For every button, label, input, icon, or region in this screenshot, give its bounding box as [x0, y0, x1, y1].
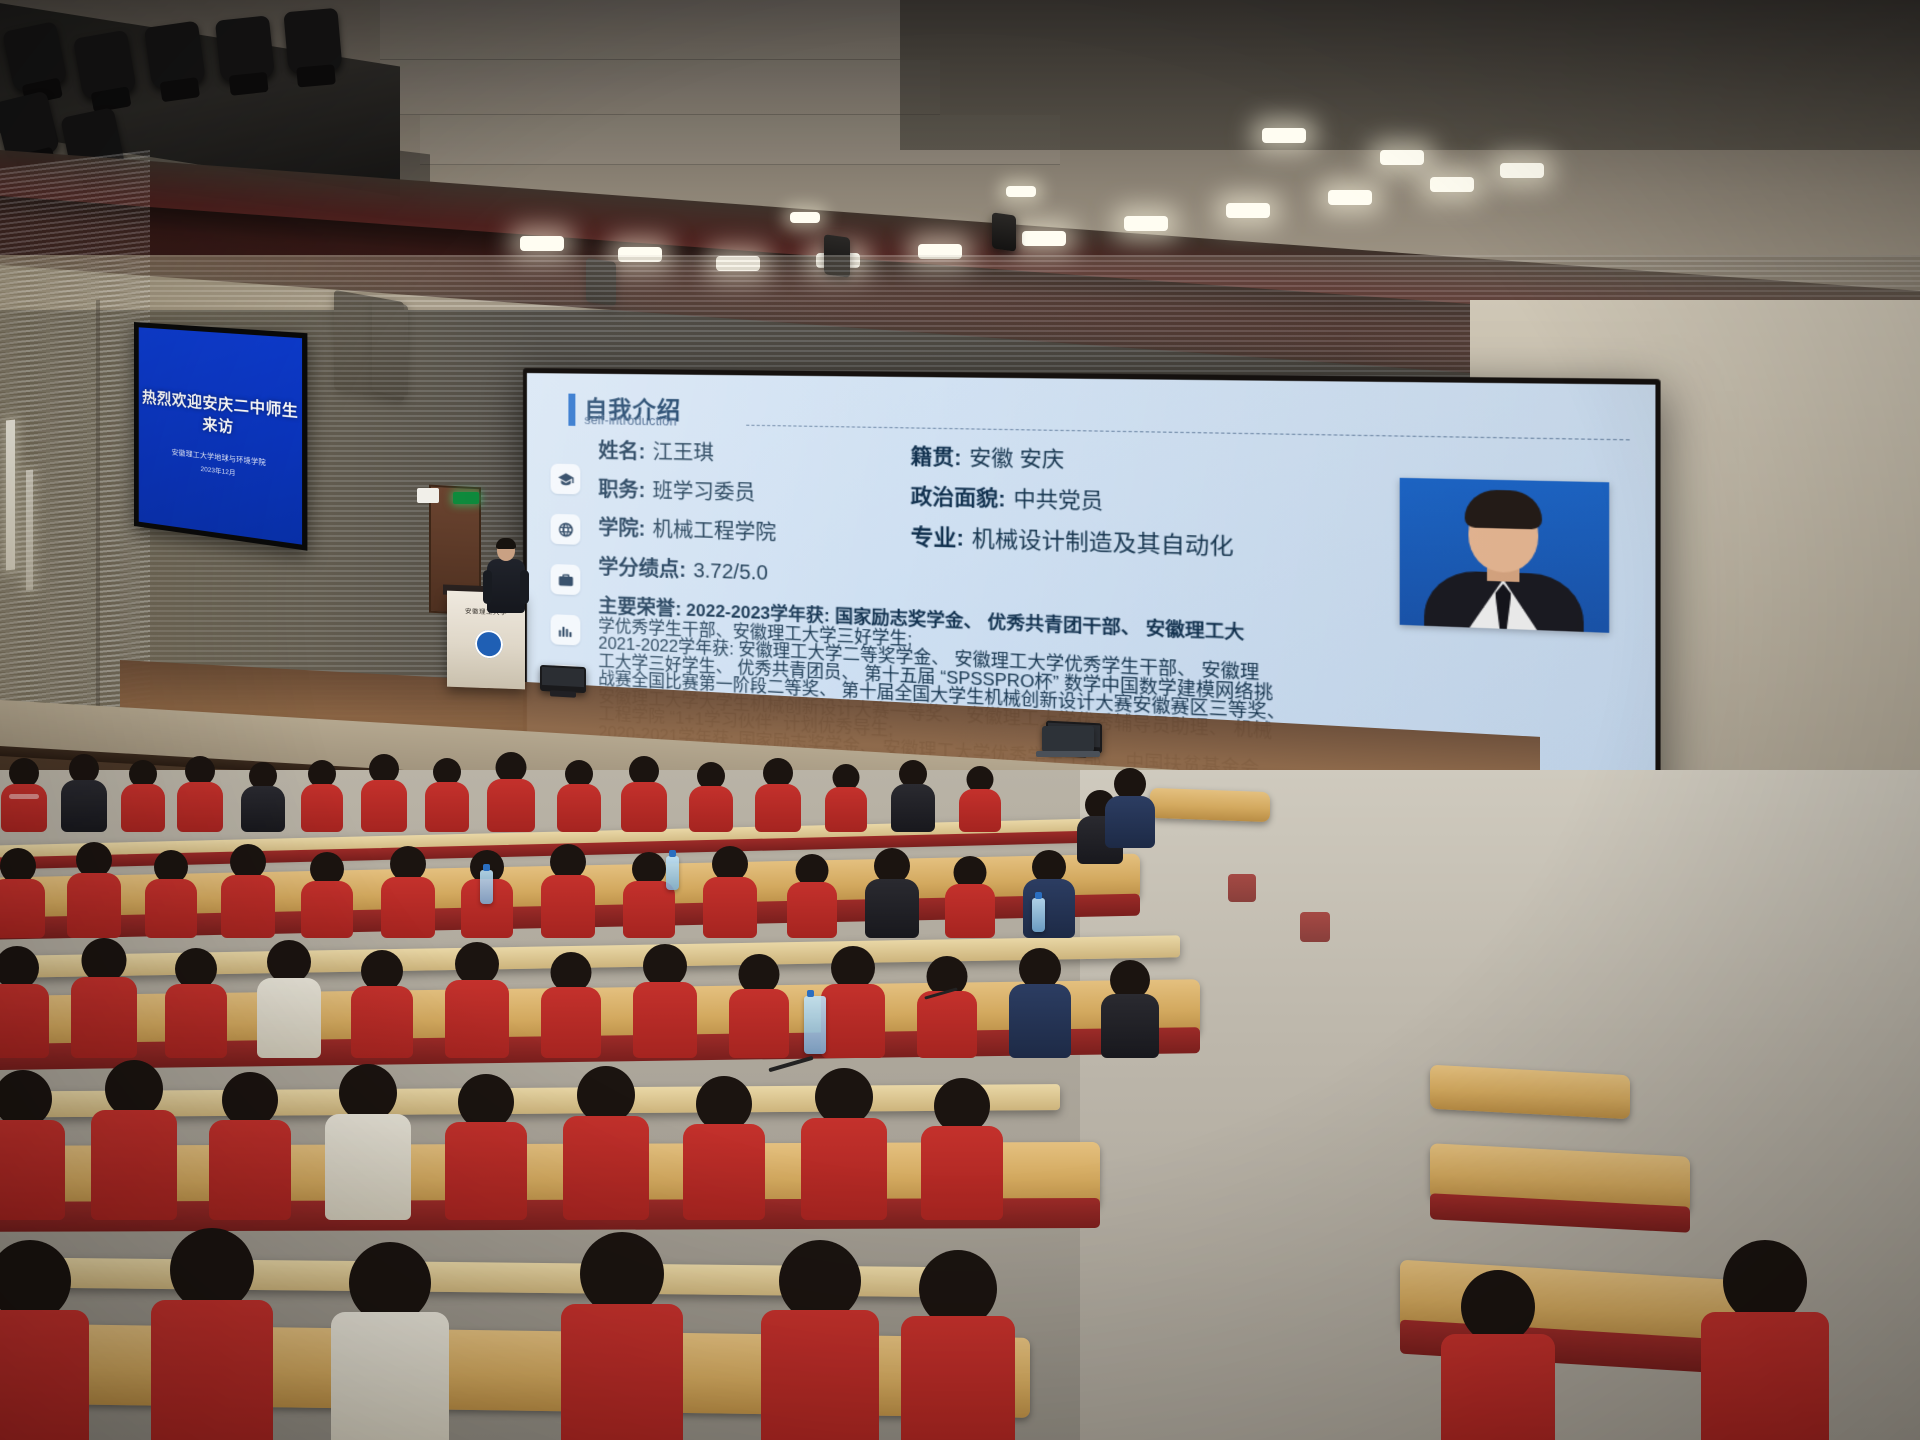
header-divider [746, 425, 1629, 441]
water-bottle [1032, 898, 1045, 932]
ceiling-light [1006, 186, 1036, 197]
ceiling-light [1500, 163, 1544, 178]
presenter-hair [496, 538, 516, 549]
spotlight-icon [144, 21, 206, 90]
audience-member [560, 1232, 684, 1440]
university-emblem-icon [475, 629, 503, 658]
ceiling-light [790, 212, 820, 223]
audience-member [944, 856, 996, 938]
info-cell-right: 政治面貌: 中共党员 [911, 480, 1104, 516]
bench-row [1150, 788, 1270, 822]
audience-member [330, 1242, 450, 1440]
water-bottle [480, 870, 493, 904]
emergency-lamp [417, 488, 439, 503]
audience-member [620, 756, 668, 832]
info-value: 江王琪 [652, 435, 713, 466]
audience-member [1700, 1240, 1830, 1440]
spotlight-icon [215, 15, 275, 82]
audience-member [1022, 850, 1076, 938]
audience-member [540, 844, 596, 938]
audience-member [728, 954, 790, 1058]
audience-member [632, 944, 698, 1058]
audience-member [360, 754, 408, 832]
audience-member [324, 1064, 412, 1220]
gpa-value: 3.72/5.0 [693, 560, 768, 586]
audience-member [864, 848, 920, 938]
globe-icon [551, 514, 581, 545]
title-accent-bar [568, 394, 575, 426]
audience-member [486, 752, 536, 832]
info-cell-left: 职务: 班学习委员 [598, 473, 910, 511]
slide-subtitle: self-introduction [584, 413, 676, 429]
ceiling-light [1262, 128, 1306, 143]
audience-member [682, 1076, 766, 1220]
info-value: 机械工程学院 [652, 513, 776, 546]
info-value: 机械设计制造及其自动化 [972, 522, 1234, 562]
info-label: 专业: [911, 520, 964, 553]
audience-member [0, 1240, 90, 1440]
wall-light-slot [6, 419, 15, 570]
audience-member [120, 760, 166, 832]
audience-member [150, 1228, 274, 1440]
spotlight-icon [283, 8, 342, 74]
audience-member [820, 946, 886, 1058]
ceiling-dark-panel [900, 0, 1920, 150]
audience-member [176, 756, 224, 832]
info-value: 中共党员 [1013, 482, 1103, 515]
audience-member [256, 940, 322, 1058]
audience-member [900, 1250, 1016, 1440]
loudspeaker [992, 212, 1016, 251]
info-label: 政治面貌: [911, 480, 1006, 513]
audience-member [90, 1060, 178, 1220]
ceiling-light [1226, 203, 1270, 218]
water-bottle [666, 856, 679, 890]
gpa-label: 学分绩点: [598, 550, 686, 583]
briefcase-icon [551, 564, 581, 595]
audience-member [702, 846, 758, 938]
info-label: 姓名: [598, 434, 645, 464]
audience-member [890, 760, 936, 832]
welcome-headline: 热烈欢迎安庆二中师生来访 [139, 385, 302, 444]
info-label: 职务: [598, 473, 645, 504]
audience-member [688, 762, 734, 832]
audience-member [300, 760, 344, 832]
student-portrait-photo [1400, 478, 1609, 633]
audience-member [444, 1074, 528, 1220]
audience-member [144, 850, 198, 938]
audience-member [786, 854, 838, 938]
audience-member [824, 764, 868, 832]
audience-area [0, 770, 1920, 1440]
audience-member [60, 754, 108, 832]
wall-light-slot [26, 470, 33, 591]
audience-member [350, 950, 414, 1058]
ceiling-panel [380, 0, 900, 60]
info-label: 学院: [598, 511, 645, 542]
info-cell-right: 籍贯: 安徽 安庆 [911, 440, 1065, 474]
audience-member [1440, 1270, 1556, 1440]
info-value: 班学习委员 [652, 474, 755, 506]
seat-marker [1300, 912, 1330, 942]
audience-member [556, 760, 602, 832]
audience-member [1104, 768, 1156, 848]
graduation-cap-icon [551, 464, 581, 495]
audience-member [540, 952, 602, 1058]
audience-member [220, 844, 276, 938]
audience-member [424, 758, 470, 832]
audience-member [70, 938, 138, 1058]
info-cell-left: 学院: 机械工程学院 [598, 511, 910, 550]
audience-member [164, 948, 228, 1058]
ceiling-light [1380, 150, 1424, 165]
audience-member [0, 946, 50, 1058]
audience-member [1008, 948, 1072, 1058]
wall-groove [96, 300, 100, 720]
water-bottle [804, 996, 826, 1054]
floor-monitor [540, 665, 586, 693]
laptop [1042, 726, 1094, 752]
spotlight-icon [73, 30, 137, 100]
audience-member [66, 842, 122, 938]
welcome-display-content: 热烈欢迎安庆二中师生来访 安徽理工大学地球与环境学院 2023年12月 [139, 327, 302, 544]
welcome-display[interactable]: 热烈欢迎安庆二中师生来访 安徽理工大学地球与环境学院 2023年12月 [134, 322, 307, 551]
presenter-arm [520, 570, 529, 604]
info-label: 籍贯: [911, 440, 962, 472]
info-cell-left: 姓名: 江王琪 [598, 434, 910, 470]
exit-sign-icon [453, 492, 479, 504]
audience-member [300, 852, 354, 938]
info-value: 安徽 安庆 [969, 441, 1064, 474]
ceiling-light [520, 236, 564, 251]
audience-member [0, 1070, 66, 1220]
audience-member [1100, 960, 1160, 1058]
audience-member [920, 1078, 1004, 1220]
ceiling-light [1328, 190, 1372, 205]
audience-member [444, 942, 510, 1058]
chart-bars-icon [551, 614, 581, 645]
auditorium-photo: 热烈欢迎安庆二中师生来访 安徽理工大学地球与环境学院 2023年12月 自我介绍… [0, 0, 1920, 1440]
audience-member [240, 762, 286, 832]
audience-member [760, 1240, 880, 1440]
audience-member [958, 766, 1002, 832]
audience-member [562, 1066, 650, 1220]
audience-member [754, 758, 802, 832]
audience-member [916, 956, 978, 1058]
presenter-arm [483, 570, 492, 604]
info-cell-right: 专业: 机械设计制造及其自动化 [911, 520, 1234, 562]
ceiling-panel [380, 60, 940, 115]
presenter-person [484, 540, 528, 612]
ceiling-light [1022, 231, 1066, 246]
audience-member [0, 758, 48, 832]
audience-member [800, 1068, 888, 1220]
ceiling-light [1430, 177, 1474, 192]
audience-member [380, 846, 436, 938]
audience-member [0, 848, 46, 938]
audience-member [208, 1072, 292, 1220]
seat-marker [1228, 874, 1256, 902]
portrait-hair [1465, 489, 1542, 529]
ceiling-light [1124, 216, 1168, 231]
